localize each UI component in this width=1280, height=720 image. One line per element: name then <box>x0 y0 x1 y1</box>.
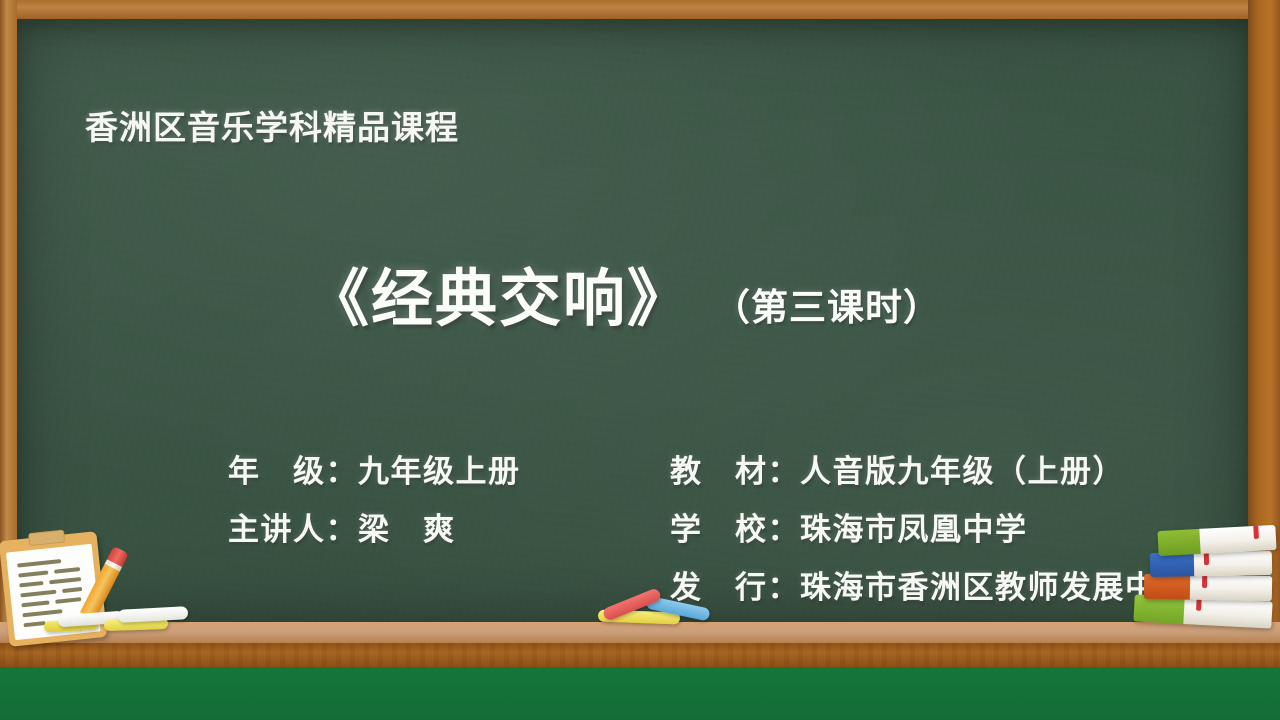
bookmark-icon <box>1204 552 1209 565</box>
clipboard-clamp <box>28 530 65 547</box>
bookmark-icon <box>1202 575 1207 588</box>
lesson-info-right-column: 教 材：人音版九年级（上册） 学 校：珠海市凤凰中学 发 行：珠海市香洲区教师发… <box>670 443 1190 617</box>
center-chalk-group <box>596 592 716 628</box>
course-series-subtitle: 香洲区音乐学科精品课程 <box>85 101 459 149</box>
book-stack-group <box>1140 528 1280 640</box>
lesson-session-label: （第三课时） <box>713 277 941 331</box>
white-chalk-left-2 <box>118 606 189 623</box>
book-orange <box>1144 574 1272 601</box>
book-spine <box>1144 574 1193 600</box>
info-row-grade: 年 级：九年级上册 <box>228 443 521 501</box>
book-pages <box>1200 525 1277 554</box>
bookmark-icon <box>1253 526 1259 539</box>
book-spine <box>1157 529 1203 556</box>
bottom-green-strip <box>0 667 1280 720</box>
slide-canvas: 香洲区音乐学科精品课程 《经典交响》 （第三课时） 年 级：九年级上册 主讲人：… <box>0 0 1280 720</box>
book-spine <box>1150 552 1197 577</box>
lesson-title: 《经典交响》 <box>307 248 691 338</box>
lesson-info-left-column: 年 级：九年级上册 主讲人：梁 爽 <box>228 443 521 559</box>
lesson-title-row: 《经典交响》 （第三课时） <box>0 248 1248 338</box>
info-row-publisher: 发 行：珠海市香洲区教师发展中心 <box>670 559 1190 617</box>
info-row-school: 学 校：珠海市凤凰中学 <box>670 501 1190 559</box>
info-row-presenter: 主讲人：梁 爽 <box>228 501 521 559</box>
left-decoration-group <box>0 524 185 634</box>
info-row-textbook: 教 材：人音版九年级（上册） <box>670 443 1190 501</box>
frame-top-rail <box>0 0 1280 19</box>
chalk-ledge-front <box>0 643 1280 667</box>
